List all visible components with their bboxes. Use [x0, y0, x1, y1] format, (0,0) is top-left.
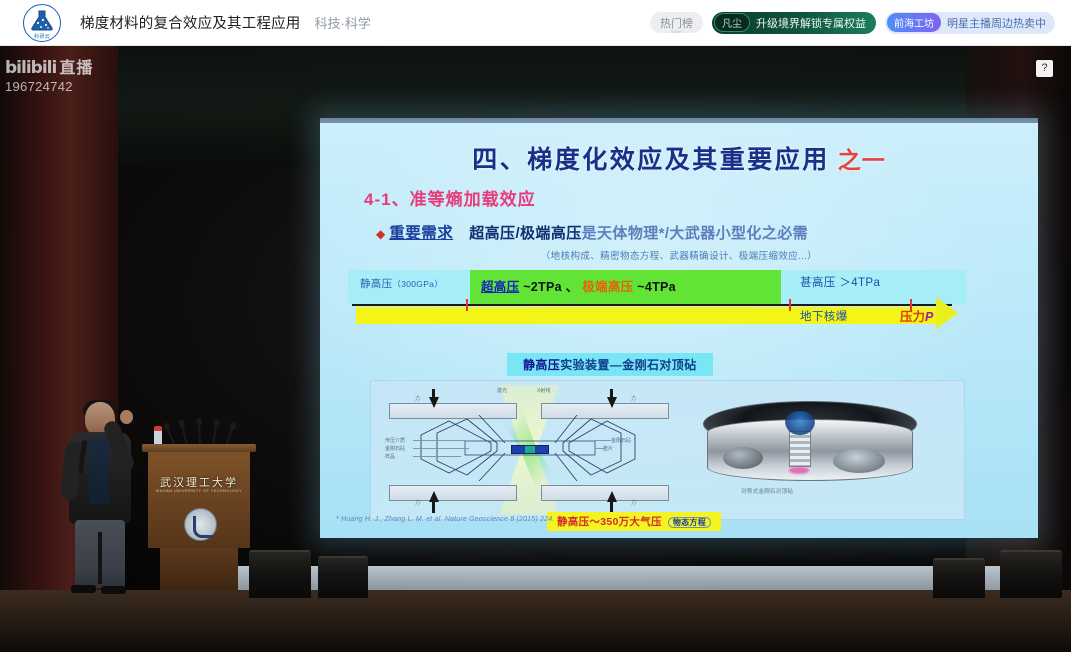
- pressure-static-label: 静高压（300GPa）: [360, 276, 443, 291]
- presenter-shirt: [89, 438, 109, 504]
- pressure-value-callout: 静高压～350万大气压物态方程: [547, 512, 721, 531]
- microphone-array: [168, 422, 240, 446]
- very-label-text: 甚高压: [800, 277, 836, 289]
- requirement-text-strong: 超高压/极端高压: [469, 225, 581, 242]
- slide-subtitle: 4-1、准等熵加载效应: [364, 185, 536, 210]
- presenter: [57, 402, 145, 594]
- slide-top-band: [320, 118, 1038, 123]
- diamond-bullet-icon: ◆: [376, 227, 385, 241]
- ultra-value: ~2TPa: [523, 280, 562, 294]
- watermark-brand: bilibili: [5, 58, 56, 78]
- stage-speaker: [933, 558, 985, 598]
- sample-label: 样品: [385, 453, 395, 460]
- force-label-left: 力: [415, 395, 420, 402]
- underground-blast-label: 地下核爆: [800, 308, 848, 324]
- presentation-slide: 四、梯度化效应及其重要应用之一 4-1、准等熵加载效应 ◆ 重要需求 超高压/极…: [320, 118, 1038, 538]
- sample-material: [525, 446, 535, 453]
- hot-rank-sublabel: RANK: [650, 29, 703, 34]
- podium-university-name-cn: 武汉理工大学: [148, 474, 250, 490]
- label-separator: 、: [566, 280, 579, 294]
- podium-top: [142, 444, 256, 452]
- cell-pink-glow: [789, 467, 809, 474]
- extreme-value: ~4TPa: [637, 280, 676, 294]
- force-label-right: 力: [631, 395, 636, 402]
- figure-caption-rest: 实验装置—金刚石对顶砧: [560, 358, 696, 372]
- presenter-shoe-left: [71, 585, 96, 593]
- pressure-axis-line: [352, 304, 952, 306]
- axis-tick: [466, 299, 468, 311]
- force-label-bottom-right: 力: [631, 499, 636, 506]
- privilege-level-label: 凡尘: [714, 13, 750, 32]
- requirement-text-dim: 是天体物理*/大武器小型化之必需: [582, 225, 808, 242]
- static-label-value: （300GPa）: [392, 279, 443, 289]
- hot-rank-badge[interactable]: 热门榜 RANK: [650, 12, 703, 33]
- static-label-text: 静高压: [360, 278, 392, 290]
- laser-label: 激光: [497, 387, 507, 394]
- stage-floor: [0, 590, 1071, 652]
- cell-window-right: [833, 449, 885, 473]
- leader-line: [595, 448, 605, 449]
- lecture-podium: 武汉理工大学 WUHAN UNIVERSITY OF TECHNOLOGY: [146, 444, 252, 594]
- watermark-room-id: 196724742: [5, 79, 93, 94]
- leader-line: [413, 440, 465, 441]
- privilege-text: 升级境界解锁专属权益: [756, 15, 866, 31]
- presenter-hand: [120, 410, 133, 424]
- leader-line: [595, 440, 611, 441]
- shop-tag-label: 前海工坊: [887, 13, 941, 32]
- stream-title: 梯度材料的复合效应及其工程应用: [80, 12, 301, 33]
- slide-title-main: 四、梯度化效应及其重要应用: [472, 146, 830, 174]
- shop-badge[interactable]: 前海工坊 明星主播周边热卖中: [885, 12, 1055, 34]
- extreme-label: 极端高压: [582, 280, 633, 294]
- slide-title: 四、梯度化效应及其重要应用之一: [320, 140, 1038, 176]
- podium-front-panel: 武汉理工大学 WUHAN UNIVERSITY OF TECHNOLOGY: [148, 452, 250, 548]
- stage-speaker: [318, 556, 368, 598]
- shop-text: 明星主播周边热卖中: [947, 15, 1046, 31]
- diamond-label-right: 金刚石砧: [611, 437, 631, 444]
- stream-category[interactable]: 科技·科学: [315, 13, 371, 32]
- university-emblem-icon: [184, 508, 217, 541]
- figure-caption-bold: 静高压: [523, 358, 560, 372]
- gasket-label: 传压介质: [385, 437, 405, 444]
- figure-caption-box: 静高压实验装置—金刚石对顶砧: [507, 353, 713, 376]
- xray-label: X射线: [537, 387, 550, 394]
- pressure-axis-symbol: P: [925, 310, 933, 324]
- help-icon[interactable]: ?: [1036, 60, 1053, 77]
- slide-citation: * Huang H. J., Zhang L. M. et al. Nature…: [336, 516, 554, 523]
- requirement-label: 重要需求: [389, 221, 453, 243]
- pressure-axis-title-text: 压力: [900, 310, 925, 324]
- avatar-label: 科研云: [24, 34, 60, 40]
- pressure-very-label: 甚高压 ＞4TPa: [800, 274, 880, 290]
- pressure-value-text: 静高压～350万大气压: [557, 516, 662, 528]
- requirement-note: （地核构成、精密物态方程、武器精确设计、极端压缩效应...）: [320, 248, 1038, 262]
- cell-screw: [789, 431, 811, 467]
- diamond-label: 金刚石砧: [385, 445, 405, 452]
- live-video-player[interactable]: ? bilibili 直播 196724742 四、梯度化效应及其重要应用之一 …: [0, 46, 1071, 652]
- pressure-yellow-bar: [356, 307, 940, 324]
- podium-base: [160, 548, 238, 590]
- page-header: 科研云 梯度材料的复合效应及其工程应用 科技·科学 热门榜 RANK 凡尘 升级…: [0, 0, 1071, 46]
- very-label-value: ＞4TPa: [839, 277, 880, 289]
- dac-schematic-diagram: 激光 X射线 力 力 力 力 传压介质 金刚石砧 样品 金刚石砧 垫片: [379, 385, 679, 515]
- photo-caption: 对称式金刚石对顶砧: [741, 487, 793, 495]
- podium-microphone: [212, 424, 217, 446]
- stage-speaker: [1000, 550, 1062, 598]
- presenter-leg-gap: [98, 532, 102, 584]
- slide-title-suffix: 之一: [838, 147, 886, 173]
- presenter-shoe-right: [101, 586, 126, 594]
- watermark-suffix: 直播: [59, 54, 93, 78]
- dac-apparatus-photo: 对称式金刚石对顶砧: [693, 391, 925, 503]
- podium-university-name-en: WUHAN UNIVERSITY OF TECHNOLOGY: [148, 489, 250, 493]
- pressure-green-label: 超高压 ~2TPa 、 极端高压 ~4TPa: [481, 276, 676, 295]
- force-label-bottom-left: 力: [415, 499, 420, 506]
- podium-microphone: [198, 423, 201, 446]
- bilibili-watermark: bilibili 直播 196724742: [5, 54, 93, 94]
- cell-blue-reflection: [785, 411, 815, 435]
- eos-tag: 物态方程: [668, 517, 711, 528]
- pressure-axis-title: 压力P: [900, 306, 933, 325]
- ultra-label: 超高压: [481, 280, 519, 294]
- axis-tick: [789, 299, 791, 311]
- leader-line: [413, 448, 469, 449]
- flask-icon: [29, 9, 55, 31]
- stage-speaker: [249, 550, 311, 598]
- header-badges: 热门榜 RANK 凡尘 升级境界解锁专属权益 前海工坊 明星主播周边热卖中: [650, 12, 1055, 34]
- pressure-axis-arrow-icon: [936, 297, 958, 329]
- privilege-badge[interactable]: 凡尘 升级境界解锁专属权益: [712, 12, 876, 34]
- requirement-row: ◆ 重要需求 超高压/极端高压是天体物理*/大武器小型化之必需: [376, 221, 808, 243]
- cell-window-left: [723, 447, 763, 469]
- leader-line: [413, 456, 461, 457]
- podium-microphone: [181, 424, 188, 446]
- figure-panel: 激光 X射线 力 力 力 力 传压介质 金刚石砧 样品 金刚石砧 垫片: [370, 380, 965, 520]
- requirement-text: 超高压/极端高压是天体物理*/大武器小型化之必需: [469, 222, 808, 243]
- streamer-avatar[interactable]: 科研云: [23, 4, 61, 42]
- pressure-axis-figure: 静高压（300GPa） 超高压 ~2TPa 、 极端高压 ~4TPa 甚高压 ＞…: [348, 270, 1008, 330]
- water-bottle: [154, 426, 162, 446]
